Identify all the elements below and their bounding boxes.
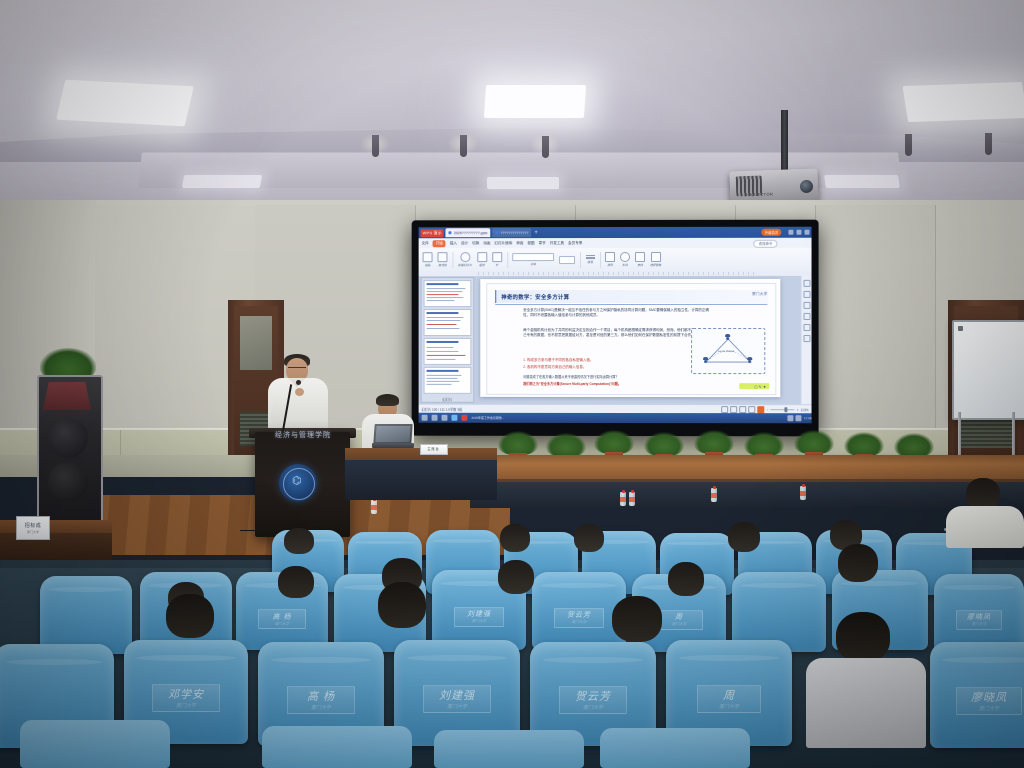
laptop-operator-hair <box>376 394 399 406</box>
slide-thumbnail-2[interactable] <box>424 309 472 336</box>
laptop-screen <box>375 426 410 442</box>
seat-plate-sub-near-1: 厦门大学 <box>176 702 196 709</box>
sidebar-icon-3[interactable] <box>803 302 810 309</box>
new-tab-button[interactable]: + <box>534 230 538 236</box>
seat-plate-sub-mid-8: 厦门大学 <box>972 622 986 627</box>
slide-closing-2: 我们称之为"安全多方计算(Secure Multi-party Computat… <box>523 382 738 387</box>
tray-volume-icon[interactable] <box>796 415 802 421</box>
seat-plate-name-near-1: 邓学安 <box>168 686 204 702</box>
wps-title-bar: WPS 演示 2025?????????.pptx ??????????????… <box>419 227 812 239</box>
wps-tab-label-1: ?????????????? <box>500 231 528 235</box>
side-table-name-card: 招标成 厦门大学 <box>16 516 50 540</box>
audience-head-near-4 <box>836 612 890 662</box>
sidebar-icon-6[interactable] <box>803 335 810 342</box>
ruler-ticks <box>478 272 758 275</box>
arrange-icon <box>605 252 615 262</box>
task-view-icon[interactable] <box>441 415 447 421</box>
laptop-keyboard <box>372 443 414 448</box>
slide-paragraph-2: 两个金融机构计划为了共同的利益决定互相合作一个项目，每个机构都想确定需求获得利润… <box>523 328 709 339</box>
seat-plate-sub-near-4: 厦门大学 <box>583 704 603 711</box>
slide-thumbnail-3[interactable] <box>424 338 472 365</box>
wps-tab-icon-0 <box>449 231 452 234</box>
seat-plate-near-3: 刘建强 厦门大学 <box>423 685 491 713</box>
diagram-node-p3 <box>747 357 752 362</box>
zoom-level-label: 113% <box>801 408 809 412</box>
upgrade-button[interactable]: 升级会员 <box>762 229 782 236</box>
search-icon <box>635 252 645 262</box>
diagram-edge-label: secure channel <box>718 350 734 353</box>
ribbon-label-arrange: 排列 <box>607 263 613 267</box>
audience-head-far-4 <box>728 522 760 552</box>
ribbon-tab-view[interactable]: 视图 <box>527 241 534 246</box>
ribbon-tab-design[interactable]: 设计 <box>461 241 468 246</box>
ribbon-group-section[interactable]: 节 <box>492 252 502 267</box>
seat-plate-sub-near-3: 厦门大学 <box>447 703 467 710</box>
slide-thumbnail-pane[interactable]: 幻灯片 <box>421 277 475 403</box>
start-icon[interactable] <box>422 415 428 421</box>
speaker-glasses <box>288 367 306 372</box>
diagram-node-p1 <box>725 334 730 339</box>
wps-tab-label-0: 2025?????????.pptx <box>454 231 488 235</box>
taskbar-search-icon[interactable] <box>432 415 438 421</box>
seat-plate-mid-8: 廖晓凤 厦门大学 <box>956 610 1002 630</box>
seat-plate-name-mid-3: 刘建强 <box>467 609 491 619</box>
slide-title: 神奇的数学：安全多方计算 <box>501 293 569 301</box>
sidebar-icon-1[interactable] <box>803 280 810 287</box>
water-bottle-3 <box>620 490 626 506</box>
wps-tab-icon-1 <box>495 231 498 234</box>
taskbar-clock[interactable]: 17:08 <box>804 416 812 420</box>
university-logo: 厦门大学 <box>752 292 767 297</box>
font-size-box[interactable] <box>559 256 575 264</box>
projection-display[interactable]: WPS 演示 2025?????????.pptx ??????????????… <box>419 227 812 424</box>
audience-head-mid-1 <box>278 566 314 598</box>
audience-head-mid-5 <box>838 544 878 582</box>
audience-head-near-1 <box>166 594 214 638</box>
downlight-3 <box>542 136 549 158</box>
right-sidebar[interactable] <box>800 276 811 408</box>
audience-head-far-2 <box>500 524 530 552</box>
select-pane-icon <box>651 252 661 262</box>
ribbon-group-layout[interactable]: 版式 <box>477 252 487 267</box>
audience-head-far-3 <box>574 524 604 552</box>
ribbon-group-font-size[interactable] <box>559 256 575 264</box>
lecture-hall-photo: PROJECTOR EXIT WPS 演示 2025?????????.p <box>0 0 1024 768</box>
slide-thumbnail-4[interactable] <box>424 367 472 394</box>
audience-head-far-1 <box>284 528 314 554</box>
water-bottle-2 <box>371 498 377 514</box>
seat-plate-mid-3: 刘建强 厦门大学 <box>454 607 504 627</box>
seat-plate-near-1: 邓学安 厦门大学 <box>152 684 220 712</box>
ceiling-panel-light-4 <box>182 175 262 188</box>
audience-head-near-3 <box>612 596 662 642</box>
view-reading-icon[interactable] <box>749 406 756 413</box>
layout-icon <box>477 252 487 262</box>
water-bottle-4 <box>629 490 635 506</box>
ribbon-tab-file[interactable]: 文件 <box>422 241 429 246</box>
ceiling-panel-light-1 <box>56 80 194 127</box>
ribbon-tab-animation[interactable]: 动画 <box>483 241 490 246</box>
audience-head-near-2 <box>378 582 426 628</box>
ribbon-group-paragraph[interactable]: 段落 <box>586 255 595 264</box>
slide-floating-toolbar-icons[interactable]: ▢✎▼ <box>754 385 767 389</box>
paste-icon <box>423 252 433 262</box>
ribbon-label-shape: 形状 <box>622 263 628 267</box>
ribbon-group-arrange[interactable]: 排列 <box>605 252 615 267</box>
seat-cushion-front-2[interactable] <box>434 730 584 768</box>
font-name-box[interactable] <box>512 253 554 261</box>
laptop-table-front <box>345 460 497 500</box>
audience-shoulder-near-4 <box>806 658 926 748</box>
zoom-slider[interactable] <box>771 409 795 410</box>
ribbon-toolbar: 粘贴 格式刷 新建幻灯片 版式 节 <box>419 248 812 272</box>
seat-near-6[interactable]: 廖晓凤 厦门大学 <box>930 642 1024 748</box>
microphone-head <box>296 380 301 385</box>
seat-plate-sub-near-5: 厦门大学 <box>719 703 739 710</box>
ribbon-tab-section[interactable]: 章节 <box>539 241 546 246</box>
slide-closing-1: 问题变成了在各方输入数据从来不泄露的情况下进行实际运算计算？ <box>523 375 733 380</box>
wps-tab-0[interactable]: 2025?????????.pptx <box>446 228 491 237</box>
shape-icon <box>620 252 630 262</box>
ribbon-group-paste[interactable]: 粘贴 <box>423 252 433 267</box>
thumbnail-pane-footer: 幻灯片 <box>422 397 474 402</box>
ribbon-label-select-pane: 选择窗格 <box>650 263 661 267</box>
seat-plate-name-mid-5: 周 <box>675 612 683 622</box>
side-table-name-card-sub: 厦门大学 <box>17 530 49 534</box>
seat-plate-sub-near-2: 厦门大学 <box>311 704 331 711</box>
ribbon-tab-insert[interactable]: 插入 <box>450 241 457 246</box>
audience-shoulder-right-standing <box>946 506 1024 548</box>
slide-paragraph-1: 安全多方计算(SMC)是解决一组互不信任的参与方之间保护隐私的协同计算问题，SM… <box>523 308 709 319</box>
seat-plate-mid-5: 周 厦门大学 <box>655 610 703 630</box>
zoom-slider-knob[interactable] <box>785 407 788 412</box>
maximize-icon[interactable] <box>796 230 801 235</box>
audience-head-mid-3 <box>498 560 534 594</box>
wall-panel-c <box>815 205 936 455</box>
ceiling-panel-light-5 <box>487 177 559 189</box>
ribbon-tab-bar: 文件 开始 插入 设计 切换 动画 幻灯片放映 审阅 视图 章节 开发工具 会员… <box>419 238 812 249</box>
downlight-5 <box>985 133 992 155</box>
seat-plate-mid-1: 高 杨 厦门大学 <box>258 609 306 629</box>
tray-network-icon[interactable] <box>788 415 794 421</box>
ribbon-label-section: 节 <box>495 263 498 267</box>
slide-canvas[interactable]: 神奇的数学：安全多方计算 厦门大学 安全多方计算(SMC)是解决一组互不信任的参… <box>480 279 780 397</box>
sidebar-icon-5[interactable] <box>803 324 810 331</box>
wps-taskbar-icon[interactable] <box>461 415 467 421</box>
whiteboard <box>952 320 1024 420</box>
downlight-1 <box>372 135 379 157</box>
seat-cushion-front-3[interactable] <box>600 728 750 768</box>
downlight-4 <box>905 134 912 156</box>
zoom-plus-button[interactable]: + <box>797 408 799 412</box>
seat-plate-name-mid-8: 廖晓凤 <box>967 612 991 622</box>
seat-cushion-front-4[interactable] <box>20 720 170 768</box>
slide-numbered-item-2: 2. 各机构不愿意将方案自己的输入信息。 <box>523 365 683 371</box>
wall-seam-3 <box>935 205 936 430</box>
seat-mid-8[interactable]: 廖晓凤 厦门大学 <box>934 574 1024 652</box>
door-window-left <box>240 316 272 370</box>
slide-thumbnail-1[interactable] <box>424 280 472 307</box>
seat-plate-sub-mid-1: 厦门大学 <box>275 622 289 627</box>
head-table-front <box>470 482 1024 508</box>
view-presentation-icon[interactable] <box>758 406 765 413</box>
status-bar-text: 幻灯片 100 / 111 1.0字数 3段 <box>422 407 463 412</box>
view-sorter-icon[interactable] <box>740 406 747 413</box>
ribbon-label-font: 字体 <box>530 262 536 266</box>
current-slide: 神奇的数学：安全多方计算 厦门大学 安全多方计算(SMC)是解决一组互不信任的参… <box>486 283 776 395</box>
ribbon-group-format-painter[interactable]: 格式刷 <box>438 252 448 267</box>
seat-plate-name-near-2: 高 杨 <box>307 688 335 704</box>
audience-head-mid-4 <box>668 562 704 596</box>
sidebar-icon-2[interactable] <box>803 291 810 298</box>
ceiling-panel-light-6 <box>824 175 900 188</box>
seat-plate-name-mid-1: 高 杨 <box>273 612 292 622</box>
seat-plate-sub-mid-5: 厦门大学 <box>672 622 686 627</box>
presenter-name-card-text: 主 席 台 <box>421 446 445 451</box>
ribbon-tab-review[interactable]: 审阅 <box>516 241 523 246</box>
ribbon-group-shape[interactable]: 形状 <box>620 252 630 267</box>
ribbon-tab-member[interactable]: 会员专享 <box>568 241 582 246</box>
paragraph-icon <box>586 255 595 259</box>
taskbar-tray: 17:08 <box>788 415 812 421</box>
ribbon-tab-home[interactable]: 开始 <box>433 240 446 247</box>
seat-plate-near-6: 廖晓凤 厦门大学 <box>956 687 1022 715</box>
water-bottle-6 <box>800 484 806 500</box>
ribbon-group-new-slide[interactable]: 新建幻灯片 <box>458 252 472 267</box>
ceiling-panel-light-3 <box>902 82 1024 122</box>
ribbon-label-layout: 版式 <box>479 263 485 267</box>
projector-label: PROJECTOR <box>745 192 773 198</box>
ribbon-label-new-slide: 新建幻灯片 <box>458 263 472 267</box>
diagram-node-p2 <box>703 357 708 362</box>
ribbon-tab-slideshow[interactable]: 幻灯片放映 <box>494 241 512 246</box>
wps-tab-1[interactable]: ?????????????? <box>492 228 531 237</box>
new-slide-icon <box>460 252 470 262</box>
seat-plate-mid-4: 贺云芳 厦门大学 <box>554 608 604 628</box>
pa-speaker-horn <box>43 382 91 410</box>
whiteboard-clip-icon <box>958 326 963 331</box>
seat-plate-name-near-4: 贺云芳 <box>575 688 611 704</box>
projection-display-frame: WPS 演示 2025?????????.pptx ??????????????… <box>412 220 819 437</box>
ribbon-tab-transition[interactable]: 切换 <box>472 241 479 246</box>
format-painter-icon <box>438 252 448 262</box>
seat-plate-near-5: 周 厦门大学 <box>697 685 761 713</box>
ribbon-label-paragraph: 段落 <box>587 260 593 264</box>
seat-plate-name-mid-4: 贺云芳 <box>567 610 591 620</box>
ribbon-group-select-pane[interactable]: 选择窗格 <box>650 252 661 267</box>
view-normal-icon[interactable] <box>721 406 728 413</box>
ribbon-label-paste: 粘贴 <box>425 263 431 267</box>
seat-plate-sub-mid-4: 厦门大学 <box>572 620 586 625</box>
ribbon-group-font[interactable]: 字体 <box>512 253 554 266</box>
ceiling-panel-light-2 <box>484 85 586 118</box>
explorer-icon[interactable] <box>451 415 457 421</box>
side-table-name-card-text: 招标成 <box>17 522 49 529</box>
zoom-minus-button[interactable]: − <box>767 408 769 412</box>
sidebar-icon-4[interactable] <box>803 313 810 320</box>
seat-cushion-front-1[interactable] <box>262 726 412 768</box>
taskbar-window-label[interactable]: 2025年度工作会议报告... <box>471 416 504 420</box>
seat-plate-name-near-3: 刘建强 <box>439 687 475 703</box>
seat-plate-name-near-6: 廖晓凤 <box>971 689 1007 705</box>
seat-plate-name-near-5: 周 <box>723 687 735 703</box>
seat-plate-sub-mid-3: 厦门大学 <box>472 619 486 624</box>
slide-numbered-item-1: 1. 构成多方参与基于不同的各自私密输入值。 <box>523 358 683 363</box>
slide-title-rule <box>495 304 767 305</box>
ribbon-label-find: 查找 <box>637 263 643 267</box>
seat-plate-near-4: 贺云芳 厦门大学 <box>559 686 627 714</box>
window-controls: 升级会员 <box>762 229 810 236</box>
ribbon-group-find[interactable]: 查找 <box>635 252 645 267</box>
view-outline-icon[interactable] <box>731 406 738 413</box>
seat-plate-near-2: 高 杨 厦门大学 <box>287 686 355 714</box>
seat-mid-left[interactable] <box>40 576 132 654</box>
three-party-computation-diagram: secure channel <box>691 328 765 374</box>
speaker-hand <box>295 388 304 396</box>
podium-label: 经济与管理学院 <box>262 430 344 440</box>
ribbon-tab-developer[interactable]: 开发工具 <box>550 241 564 246</box>
downlight-2 <box>460 135 467 157</box>
minimize-icon[interactable] <box>788 230 793 235</box>
seat-plate-sub-near-6: 厦门大学 <box>979 705 999 712</box>
close-icon[interactable] <box>804 230 809 235</box>
windows-taskbar: 2025年度工作会议报告... 17:08 <box>419 413 812 424</box>
pa-speaker-driver-1 <box>48 418 88 458</box>
water-bottle-5 <box>711 486 717 502</box>
section-icon <box>492 252 502 262</box>
wps-app-logo: WPS 演示 <box>421 229 444 237</box>
command-search-box[interactable]: 查找命令 <box>754 240 778 248</box>
projector-mount-pole <box>781 110 788 172</box>
ribbon-label-format-painter: 格式刷 <box>438 263 446 267</box>
pa-speaker-driver-2 <box>48 462 88 502</box>
